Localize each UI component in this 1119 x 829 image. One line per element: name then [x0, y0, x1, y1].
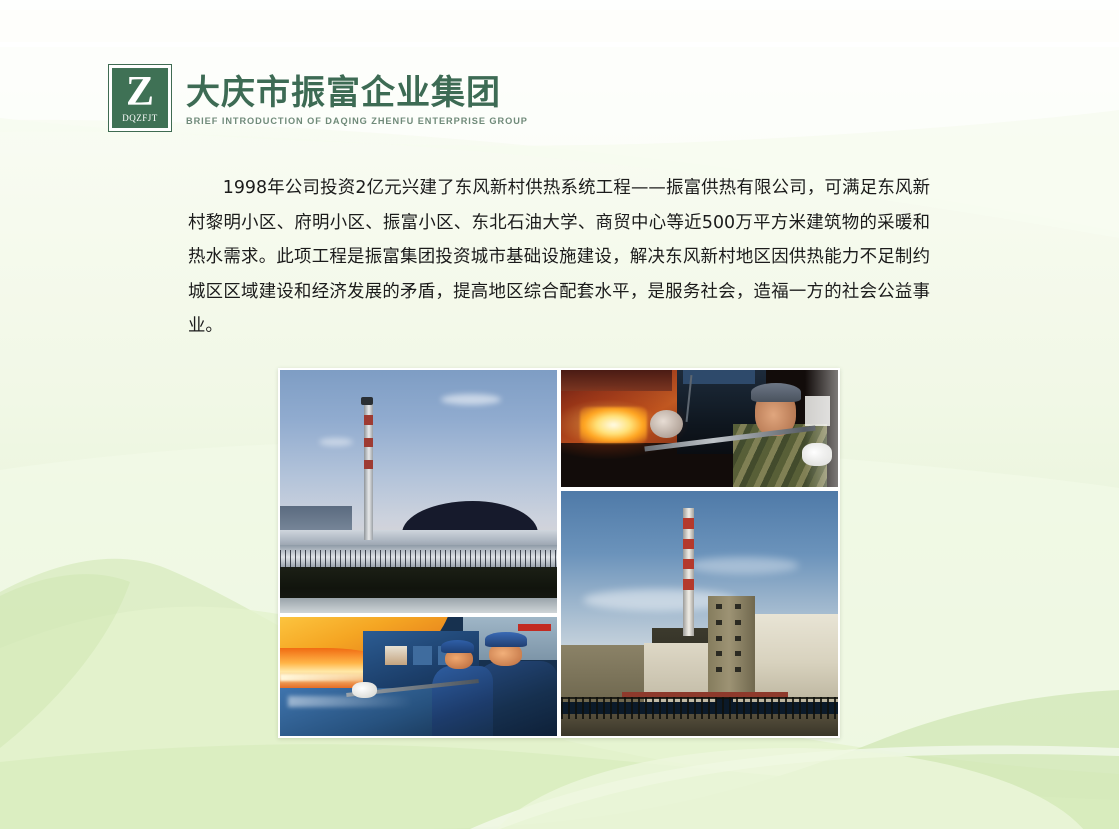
brand-name-cn: 大庆市振富企业集团 [186, 74, 528, 112]
brand-text-block: 大庆市振富企业集团 BRIEF INTRODUCTION OF DAQING Z… [186, 64, 528, 126]
brand-header: Z DQZFJT 大庆市振富企业集团 BRIEF INTRODUCTION OF… [108, 64, 528, 132]
company-logo-icon: Z DQZFJT [108, 64, 172, 132]
body-paragraph: 1998年公司投资2亿元兴建了东风新村供热系统工程——振富供热有限公司，可满足东… [188, 171, 930, 344]
photo-collage [278, 368, 840, 738]
top-band-middle [0, 10, 1119, 42]
photo-heating-plant-exterior [280, 370, 557, 613]
slide-page: Z DQZFJT 大庆市振富企业集团 BRIEF INTRODUCTION OF… [0, 0, 1119, 829]
logo-monogram: Z [126, 72, 154, 112]
photo-control-room-workers [280, 617, 557, 736]
top-band-upper [0, 0, 1119, 10]
photo-boiler-house-building [561, 491, 838, 736]
photo-furnace-operator [561, 370, 838, 487]
logo-abbreviation: DQZFJT [122, 113, 158, 123]
brand-name-en: BRIEF INTRODUCTION OF DAQING ZHENFU ENTE… [186, 116, 528, 126]
top-band-divider [0, 42, 1119, 47]
